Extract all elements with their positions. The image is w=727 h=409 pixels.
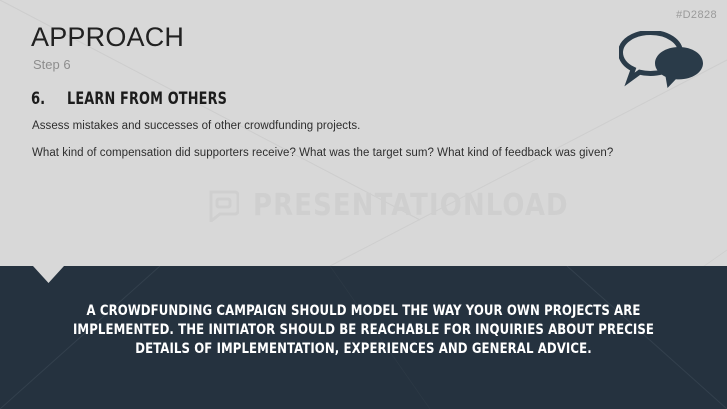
- banner-notch-icon: [33, 266, 64, 283]
- body-copy: Assess mistakes and successes of other c…: [32, 119, 692, 173]
- slide-code: #D2828: [676, 9, 717, 21]
- watermark: PRESENTATIONLOAD: [207, 188, 582, 223]
- bottom-banner: A CROWDFUNDING CAMPAIGN SHOULD MODEL THE…: [0, 266, 727, 409]
- watermark-text: PRESENTATIONLOAD: [253, 188, 569, 223]
- body-paragraph: What kind of compensation did supporters…: [32, 146, 692, 161]
- slide-canvas: #D2828 APPROACH Step 6 6. LEARN FROM OTH…: [0, 0, 727, 409]
- banner-statement-text: A CROWDFUNDING CAMPAIGN SHOULD MODEL THE…: [62, 302, 666, 359]
- banner-statement: A CROWDFUNDING CAMPAIGN SHOULD MODEL THE…: [28, 302, 699, 359]
- step-label: LEARN FROM OTHERS: [67, 89, 227, 109]
- step-headline: 6. LEARN FROM OTHERS: [31, 89, 258, 109]
- page-header: APPROACH Step 6: [31, 22, 184, 73]
- page-subtitle: Step 6: [33, 56, 184, 73]
- body-paragraph: Assess mistakes and successes of other c…: [32, 119, 692, 134]
- speech-bubble-logo-icon: [207, 190, 239, 222]
- page-title: APPROACH: [31, 22, 184, 52]
- speech-bubbles-icon: [619, 31, 703, 89]
- step-number: 6.: [31, 89, 53, 109]
